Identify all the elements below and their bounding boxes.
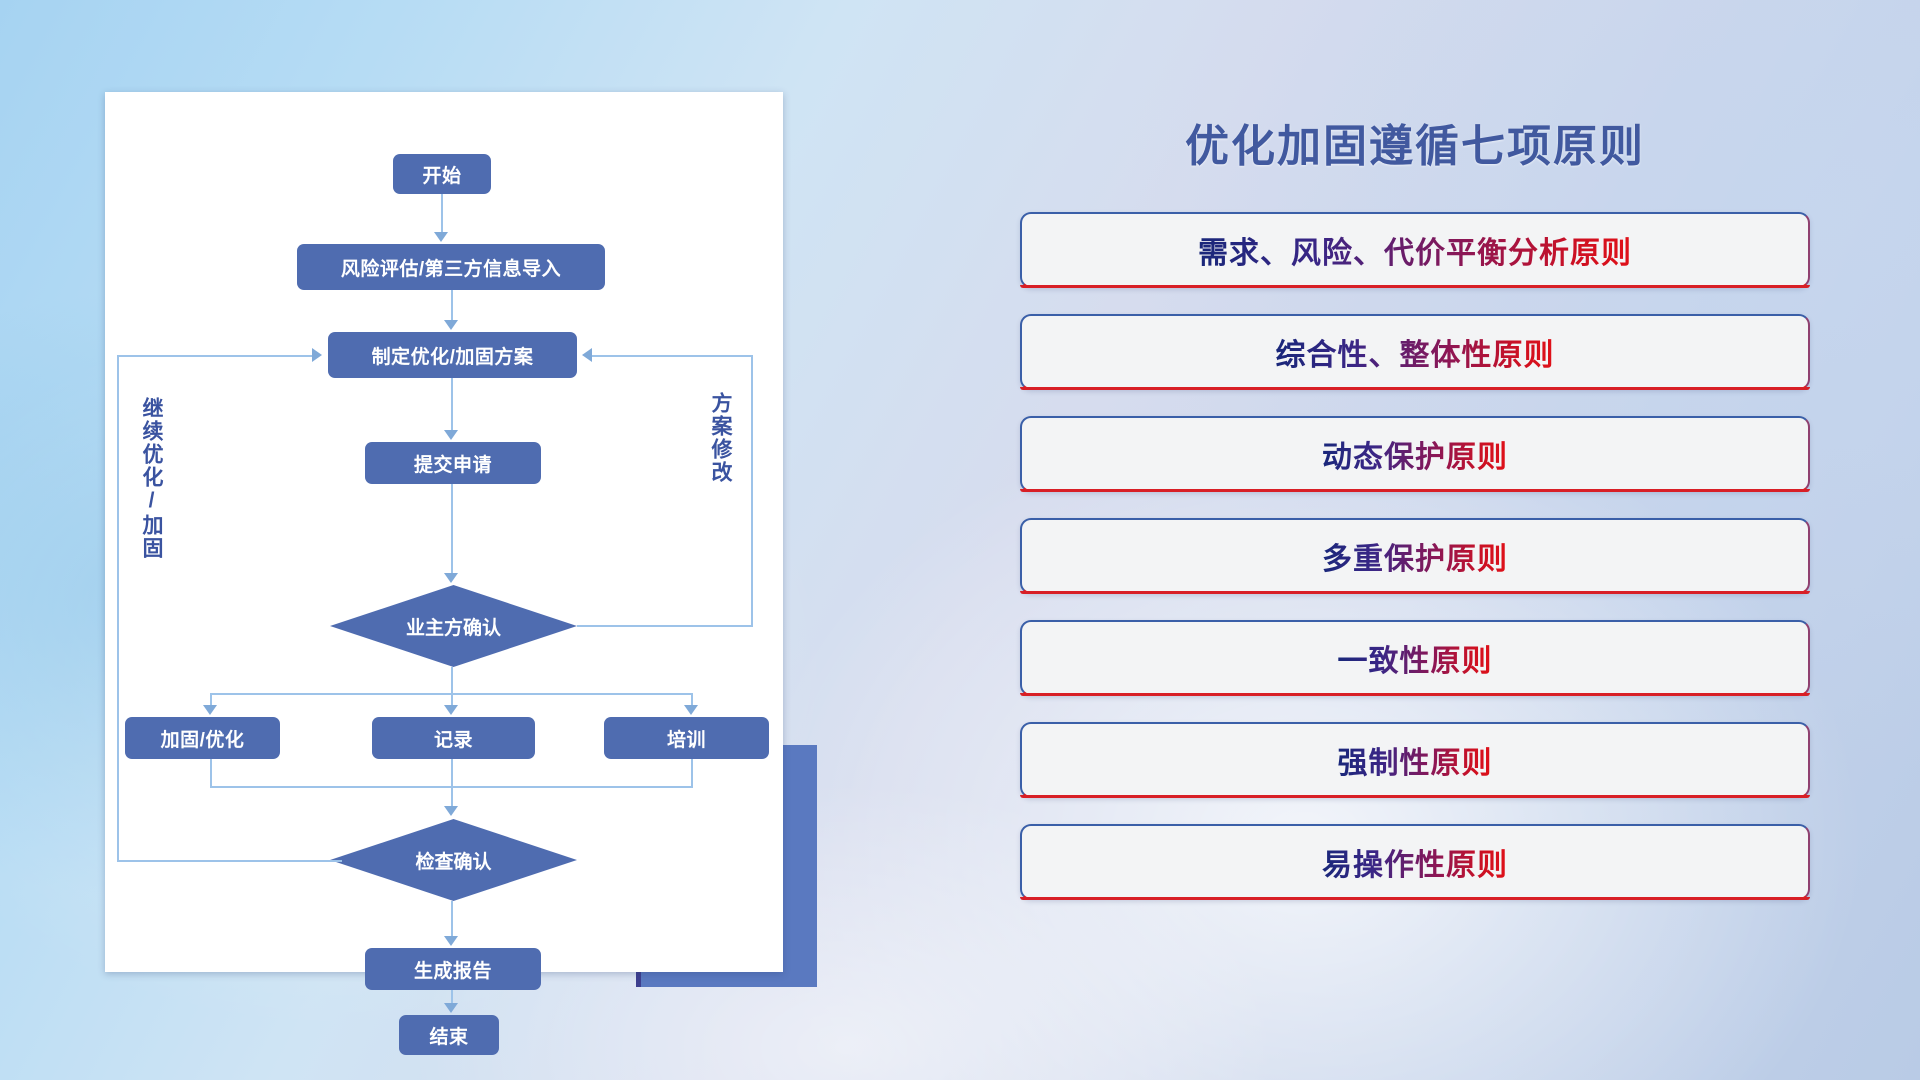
arrow-fanout-right: [684, 705, 698, 715]
principle-card-4[interactable]: 多重保护原则: [1020, 518, 1810, 594]
flow-node-generate-report[interactable]: 生成报告: [365, 948, 541, 990]
principle-label-4: 多重保护原则: [1322, 534, 1508, 578]
arrow-right-into-plan: [582, 348, 592, 362]
edge-label-right-loop: 方案修改: [710, 392, 731, 484]
arrow-check-to-report: [444, 936, 458, 946]
flow-node-reinforce-optimize-label: 加固/优化: [161, 725, 245, 752]
flow-node-start[interactable]: 开始: [393, 154, 491, 194]
flow-node-training-label: 培训: [667, 725, 706, 752]
flow-node-end-label: 结束: [429, 1022, 468, 1049]
flow-node-reinforce-optimize[interactable]: 加固/优化: [125, 717, 280, 759]
flow-node-check-confirm-label: 检查确认: [415, 847, 491, 874]
arrow-left-into-plan: [312, 348, 322, 362]
connector-fanin-mid: [451, 759, 453, 787]
principle-label-1: 需求、风险、代价平衡分析原则: [1198, 228, 1632, 272]
connector-start-to-risk: [441, 194, 443, 234]
principle-label-3: 动态保护原则: [1322, 432, 1508, 476]
flow-node-start-label: 开始: [422, 161, 461, 188]
connector-fanin-to-check: [451, 786, 453, 808]
principle-card-2[interactable]: 综合性、整体性原则: [1020, 314, 1810, 390]
principle-label-5: 一致性原则: [1338, 636, 1493, 680]
flow-node-submit-application-label: 提交申请: [414, 450, 492, 477]
arrow-fanout-left: [203, 705, 217, 715]
connector-right-up: [751, 355, 753, 627]
arrow-risk-to-plan: [444, 320, 458, 330]
connector-right-into-plan: [592, 355, 753, 357]
flow-node-risk-assessment[interactable]: 风险评估/第三方信息导入: [297, 244, 605, 290]
connector-plan-to-submit: [451, 378, 453, 430]
flow-node-check-confirm[interactable]: 检查确认: [330, 819, 577, 901]
flow-node-owner-confirm-label: 业主方确认: [406, 613, 501, 640]
principle-label-6: 强制性原则: [1338, 738, 1493, 782]
flow-node-make-plan[interactable]: 制定优化/加固方案: [328, 332, 577, 378]
connector-left-bottom: [117, 860, 342, 862]
arrow-submit-to-owner: [444, 573, 458, 583]
flow-node-record-label: 记录: [434, 725, 473, 752]
flow-node-end[interactable]: 结束: [399, 1015, 499, 1055]
flow-node-training[interactable]: 培训: [604, 717, 769, 759]
arrow-start-to-risk: [434, 232, 448, 242]
flowchart-card: 开始 风险评估/第三方信息导入 制定优化/加固方案 提交申请 业主方确认 加固/…: [105, 92, 783, 972]
flow-node-risk-assessment-label: 风险评估/第三方信息导入: [341, 254, 561, 281]
connector-fanin-right: [691, 759, 693, 787]
connector-submit-to-owner: [451, 484, 453, 574]
arrow-plan-to-submit: [444, 430, 458, 440]
flow-node-submit-application[interactable]: 提交申请: [365, 442, 541, 484]
connector-fanin-left: [210, 759, 212, 787]
principle-card-6[interactable]: 强制性原则: [1020, 722, 1810, 798]
connector-owner-right: [577, 625, 753, 627]
connector-left-up: [117, 355, 119, 862]
principle-label-7: 易操作性原则: [1322, 840, 1508, 884]
principle-label-2: 综合性、整体性原则: [1276, 330, 1555, 374]
connector-risk-to-plan: [451, 290, 453, 322]
principle-card-3[interactable]: 动态保护原则: [1020, 416, 1810, 492]
flow-node-owner-confirm[interactable]: 业主方确认: [330, 585, 577, 667]
flow-node-generate-report-label: 生成报告: [414, 956, 492, 983]
arrow-fanout-mid: [444, 705, 458, 715]
principle-card-5[interactable]: 一致性原则: [1020, 620, 1810, 696]
edge-label-left-loop: 继续优化/加固: [141, 397, 162, 560]
principle-card-7[interactable]: 易操作性原则: [1020, 824, 1810, 900]
flow-node-record[interactable]: 记录: [372, 717, 535, 759]
page-title: 优化加固遵循七项原则: [1020, 110, 1810, 174]
principles-panel: 优化加固遵循七项原则 需求、风险、代价平衡分析原则 综合性、整体性原则 动态保护…: [1020, 110, 1810, 926]
flow-node-make-plan-label: 制定优化/加固方案: [372, 342, 534, 369]
connector-check-to-report: [451, 901, 453, 937]
connector-left-into-plan: [117, 355, 313, 357]
principle-card-1[interactable]: 需求、风险、代价平衡分析原则: [1020, 212, 1810, 288]
connector-owner-down: [451, 667, 453, 695]
arrow-report-to-end: [444, 1003, 458, 1013]
arrow-fanin-to-check: [444, 806, 458, 816]
connector-report-to-end: [451, 990, 453, 1004]
